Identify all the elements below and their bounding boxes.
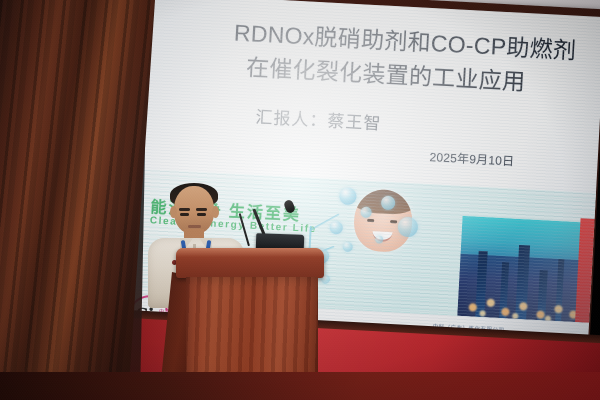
- slide-date: 2025年9月10日: [429, 148, 515, 169]
- presenter-brow-right: [196, 208, 207, 211]
- presenter-ear-right: [212, 206, 219, 218]
- banner-red-block: [575, 218, 600, 324]
- presenter-eye-left: [180, 213, 189, 216]
- stage-floor: [0, 372, 600, 400]
- refinery-photo: [457, 216, 588, 323]
- child-eye-left: [367, 219, 374, 222]
- presenter-brow-left: [179, 208, 190, 211]
- slide-presenter: 汇报人：蔡王智: [255, 103, 382, 135]
- refinery-lights: [457, 270, 585, 323]
- presenter-ear-left: [170, 206, 177, 218]
- presenter-mouth: [188, 225, 201, 228]
- presentation-photo: RDNOx脱硝助剂和CO-CP助燃剂 在催化裂化装置的工业应用 汇报人：蔡王智 …: [0, 0, 600, 400]
- child-eye-right: [390, 220, 397, 223]
- podium-body: [186, 277, 318, 387]
- podium-top: [176, 248, 324, 278]
- presenter-eye-right: [197, 213, 206, 216]
